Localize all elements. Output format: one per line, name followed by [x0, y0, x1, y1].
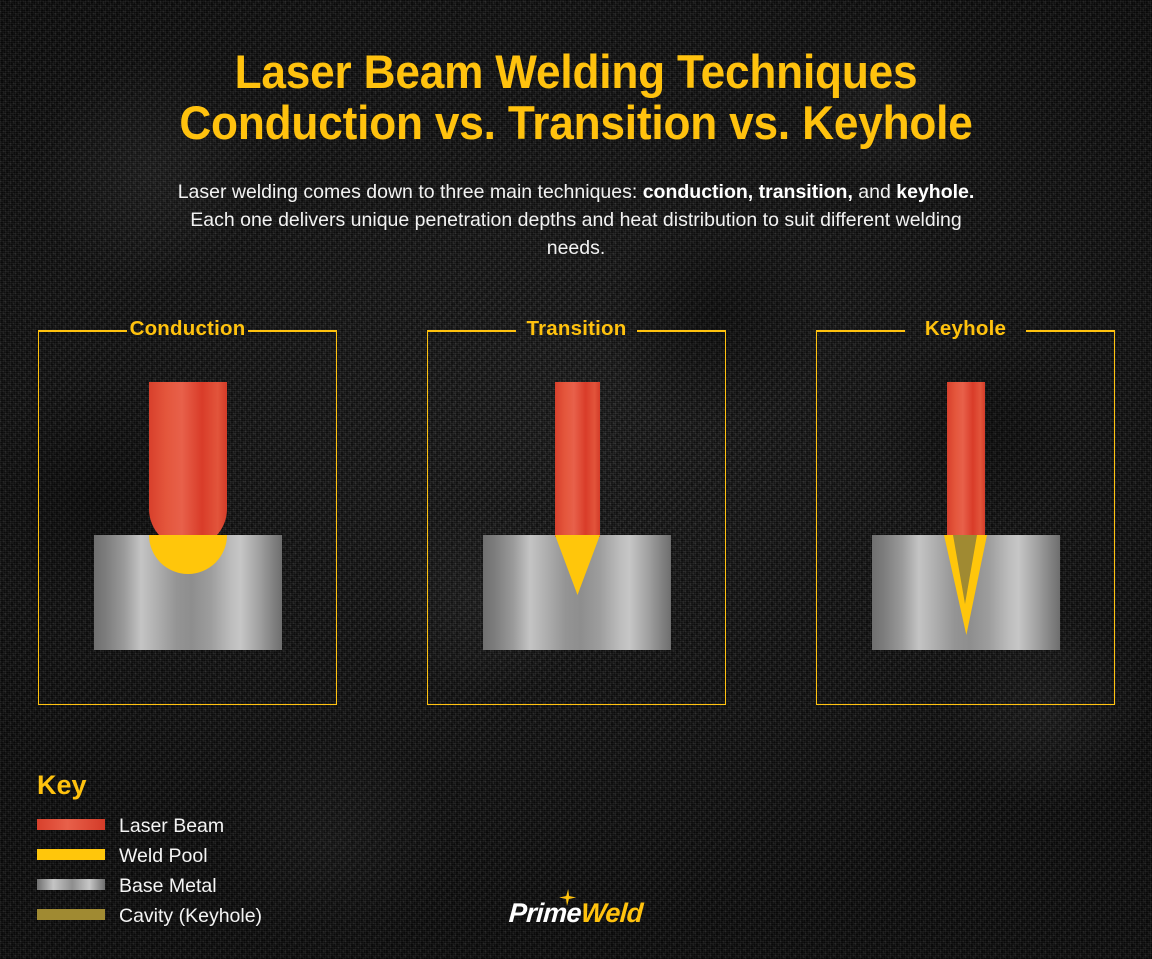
legend-label-laser-beam: Laser Beam	[119, 812, 224, 841]
brand-logo: PrimeWeld	[0, 898, 1152, 933]
page-title: Laser Beam Welding Techniques Conduction…	[0, 46, 1152, 148]
title-line-1: Laser Beam Welding Techniques	[35, 46, 1118, 97]
title-line-2: Conduction vs. Transition vs. Keyhole	[35, 97, 1118, 148]
diagram-panel-conduction: Conduction	[38, 330, 337, 705]
diagram-stage-keyhole	[816, 330, 1115, 705]
diagram-panel-keyhole: Keyhole	[816, 330, 1115, 705]
subtitle-bold-1: conduction, transition,	[643, 181, 853, 203]
legend-label-weld-pool: Weld Pool	[119, 842, 208, 871]
diagram-stage-transition	[427, 330, 726, 705]
subtitle: Laser welding comes down to three main t…	[176, 178, 976, 262]
subtitle-text-2: and	[853, 181, 896, 203]
laser-beam-shape	[555, 382, 600, 537]
legend-item-weld-pool: Weld Pool	[37, 842, 367, 872]
subtitle-bold-2: keyhole.	[896, 181, 974, 203]
legend-item-laser-beam: Laser Beam	[37, 812, 367, 842]
subtitle-text-1: Laser welding comes down to three main t…	[178, 181, 643, 203]
legend-swatch-base-metal	[37, 879, 105, 890]
spark-star-icon	[559, 889, 577, 906]
subtitle-text-3: Each one delivers unique penetration dep…	[190, 209, 962, 259]
diagram-stage-conduction	[38, 330, 337, 705]
logo-text-weld: Weld	[580, 898, 644, 928]
laser-beam-shape	[149, 382, 227, 548]
key-heading: Key	[37, 770, 87, 800]
diagram-panel-transition: Transition	[427, 330, 726, 705]
laser-beam-shape	[947, 382, 985, 537]
legend-swatch-laser-beam	[37, 819, 105, 830]
legend-label-base-metal: Base Metal	[119, 872, 217, 901]
logo-wordmark: PrimeWeld	[508, 898, 644, 928]
legend-swatch-weld-pool	[37, 849, 105, 860]
infographic-page: Laser Beam Welding Techniques Conduction…	[0, 0, 1152, 959]
